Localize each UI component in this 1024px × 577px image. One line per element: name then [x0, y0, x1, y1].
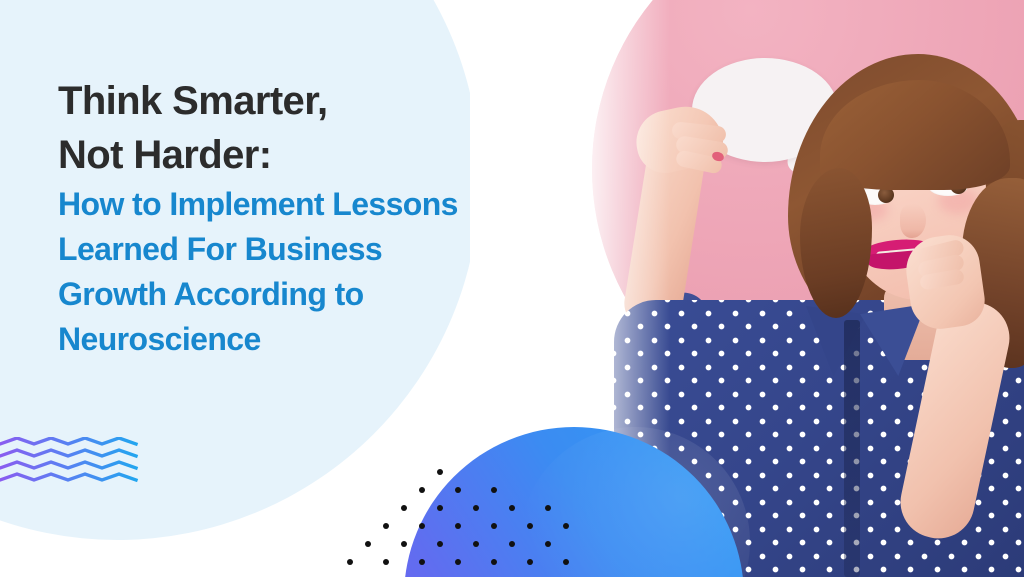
headline-blue-line-2: Learned For Business [58, 227, 558, 272]
headline-blue-line-1: How to Implement Lessons [58, 182, 558, 227]
blog-banner: Think Smarter, Not Harder: How to Implem… [0, 0, 1024, 577]
zigzag-ribbon [0, 437, 140, 489]
hero-photo [500, 0, 1024, 577]
headline-blue-line-3: Growth According to [58, 272, 558, 317]
headline-blue-line-4: Neuroscience [58, 317, 558, 362]
headline-dark-line-2: Not Harder: [58, 128, 558, 182]
headline-block: Think Smarter, Not Harder: How to Implem… [58, 74, 558, 362]
headline-dark-line-1: Think Smarter, [58, 74, 558, 128]
